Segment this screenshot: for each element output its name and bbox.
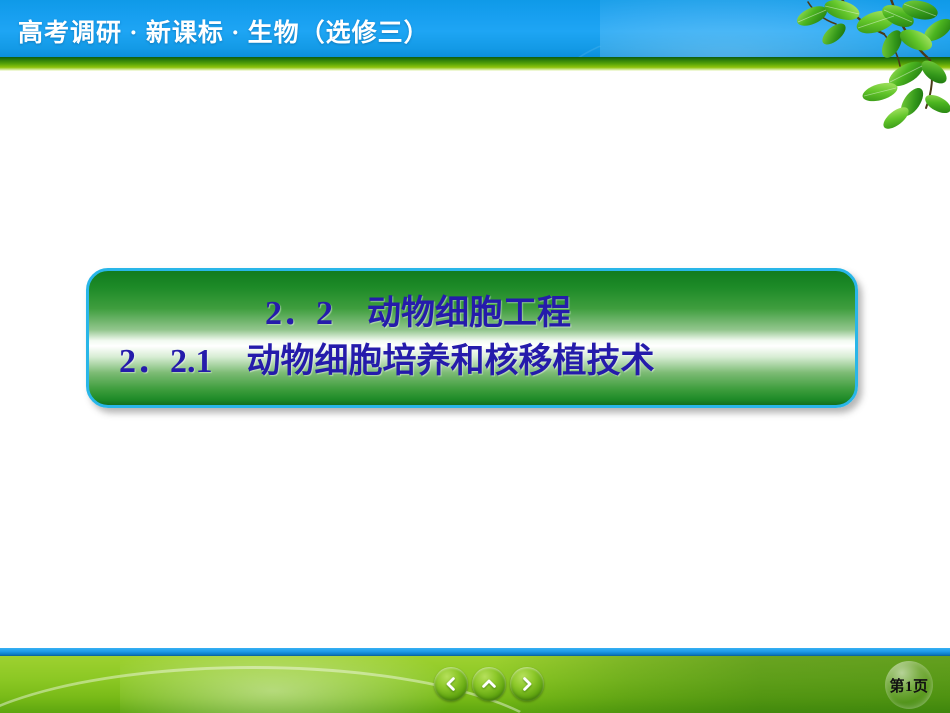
next-slide-button[interactable] [510, 667, 544, 701]
chevron-up-icon [481, 676, 497, 692]
section-title-line-2: 2．2.1 动物细胞培养和核移植技术 [89, 345, 855, 379]
footer-glow [120, 656, 460, 713]
page-number-badge: 第1页 [880, 662, 938, 708]
previous-slide-button[interactable] [434, 667, 468, 701]
slide-header: 高考调研 · 新课标 · 生物（选修三） [0, 0, 950, 71]
section-title-line-1: 2．2 动物细胞工程 [89, 297, 855, 331]
slide-navigation [434, 665, 548, 703]
slide-title-content: 2．2 动物细胞工程 2．2.1 动物细胞培养和核移植技术 [89, 271, 855, 405]
slide-canvas: 高考调研 · 新课标 · 生物（选修三） [0, 0, 950, 713]
course-title: 高考调研 · 新课标 · 生物（选修三） [18, 13, 430, 49]
page-number-label: 第1页 [889, 675, 928, 696]
chevron-left-icon [443, 676, 459, 692]
header-glow [600, 0, 950, 57]
header-green-strip [0, 57, 950, 71]
slide-title-box: 2．2 动物细胞工程 2．2.1 动物细胞培养和核移植技术 [86, 268, 858, 408]
home-slide-button[interactable] [472, 667, 506, 701]
footer-blue-rule [0, 648, 950, 656]
chevron-right-icon [519, 676, 535, 692]
